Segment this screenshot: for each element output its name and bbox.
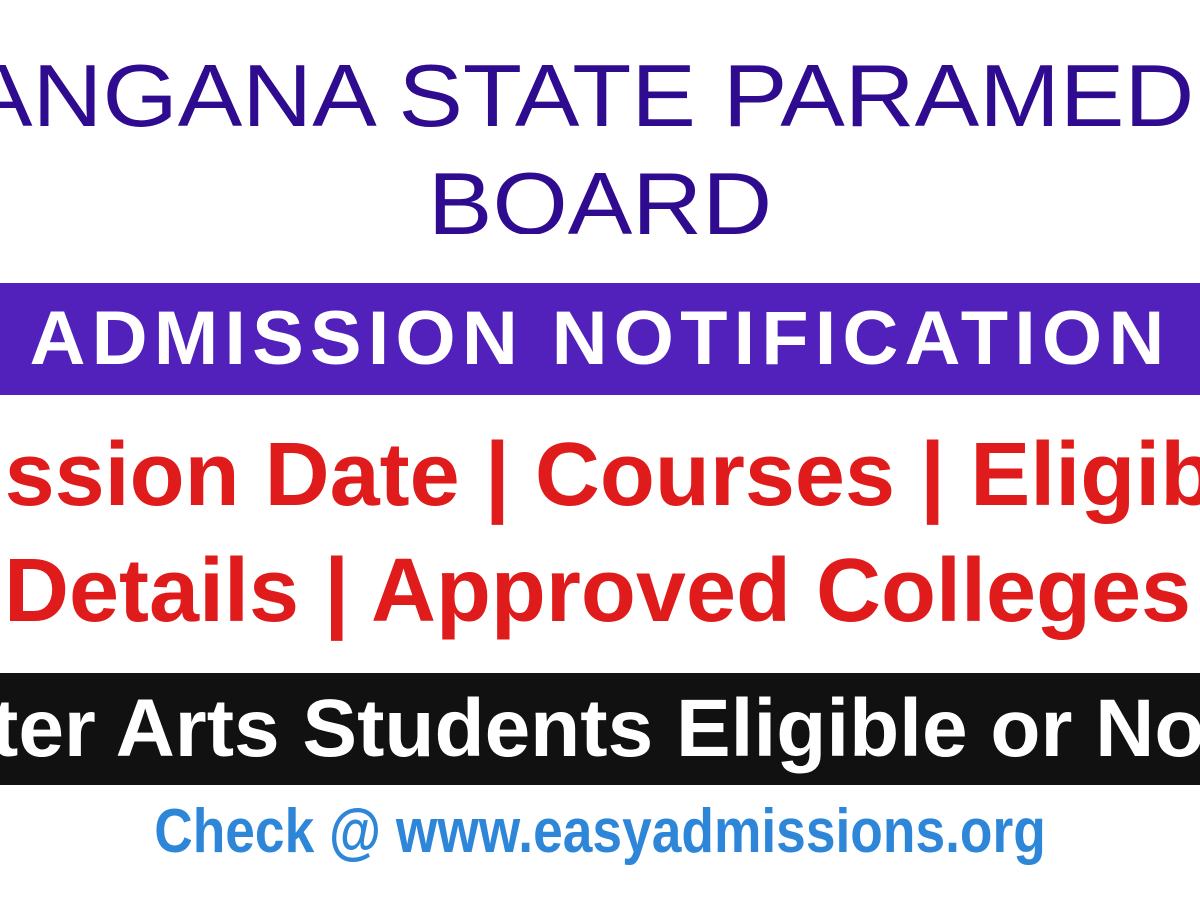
admission-notification-banner-label: ADMISSION NOTIFICATION [30,301,1171,377]
heading-line-2: BOARD [428,160,772,234]
poster-topics: Admission Date | Courses | Eligibility |… [0,418,1200,668]
topics-line-2: Fee Details | Approved Colleges List [0,546,1200,636]
poster-footer: Check @ www.easyadmissions.org [0,795,1200,895]
poster-heading: TELANGANA STATE PARAMEDICAL BOARD [0,34,1200,234]
eligibility-question-label: Inter Arts Students Eligible or Not? [0,688,1200,770]
heading-line-1: TELANGANA STATE PARAMEDICAL [0,52,1200,140]
topics-line-1: Admission Date | Courses | Eligibility | [0,430,1200,520]
footer-website-label: Check @ www.easyadmissions.org [154,799,1046,864]
admission-notification-banner: ADMISSION NOTIFICATION [0,283,1200,395]
eligibility-question-banner: Inter Arts Students Eligible or Not? [0,673,1200,785]
admission-notification-poster: TELANGANA STATE PARAMEDICAL BOARD ADMISS… [0,0,1200,900]
